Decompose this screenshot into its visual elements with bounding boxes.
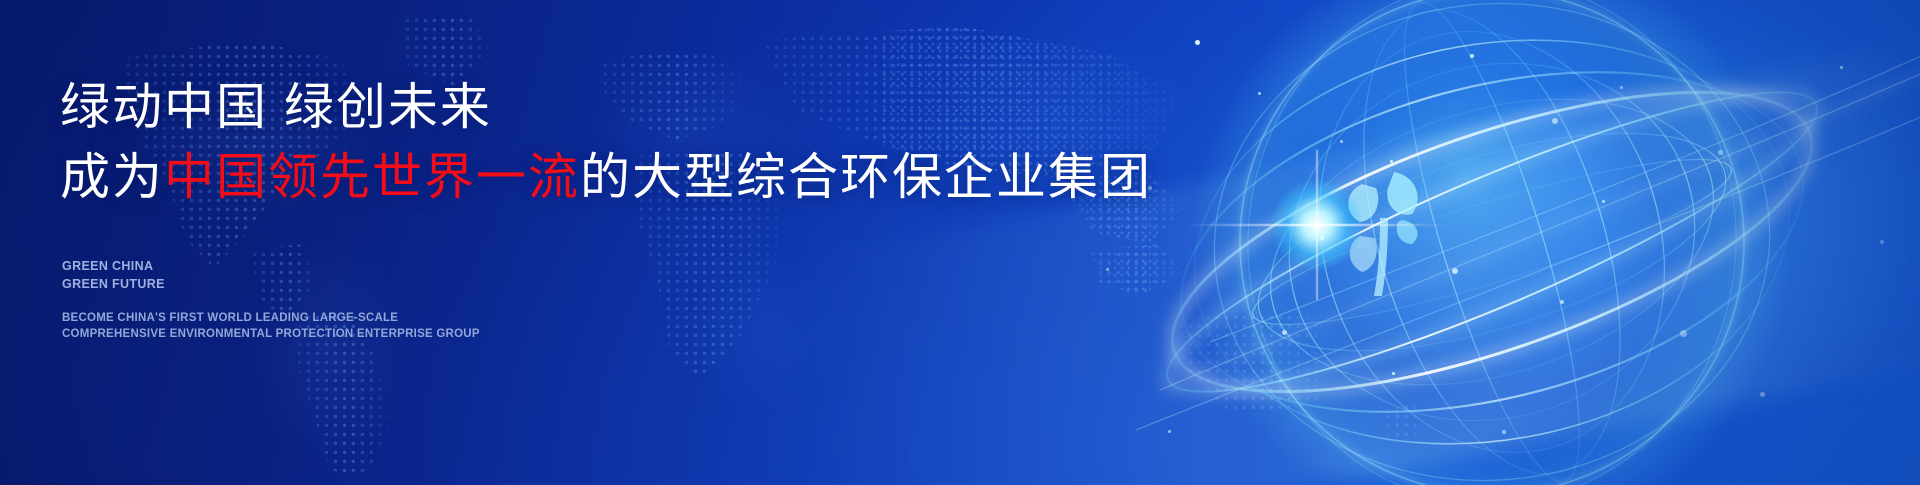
- slogan-line-1: GREEN CHINA: [62, 258, 165, 276]
- banner-copy: 绿动中国 绿创未来 成为中国领先世界一流的大型综合环保企业集团 GREEN CH…: [60, 0, 1060, 485]
- tagline-english: BECOME CHINA'S FIRST WORLD LEADING LARGE…: [62, 311, 480, 343]
- headline-highlight: 中国领先世界一流: [164, 149, 580, 205]
- headline-line-2-prefix: 成为: [60, 149, 164, 205]
- tagline-line-1: BECOME CHINA'S FIRST WORLD LEADING LARGE…: [62, 311, 480, 327]
- wireframe-globe: [1040, 0, 1920, 485]
- headline-line-2-suffix: 的大型综合环保企业集团: [580, 149, 1152, 205]
- hero-banner: 绿动中国 绿创未来 成为中国领先世界一流的大型综合环保企业集团 GREEN CH…: [0, 0, 1920, 485]
- headline-line-1: 绿动中国 绿创未来: [60, 74, 1152, 141]
- headline-line-2: 成为中国领先世界一流的大型综合环保企业集团: [60, 144, 1152, 211]
- tagline-line-2: COMPREHENSIVE ENVIRONMENTAL PROTECTION E…: [62, 327, 480, 343]
- star-flare: [1272, 180, 1362, 270]
- headline: 绿动中国 绿创未来 成为中国领先世界一流的大型综合环保企业集团: [60, 74, 1152, 211]
- slogan-english: GREEN CHINA GREEN FUTURE: [62, 258, 165, 294]
- slogan-line-2: GREEN FUTURE: [62, 276, 165, 294]
